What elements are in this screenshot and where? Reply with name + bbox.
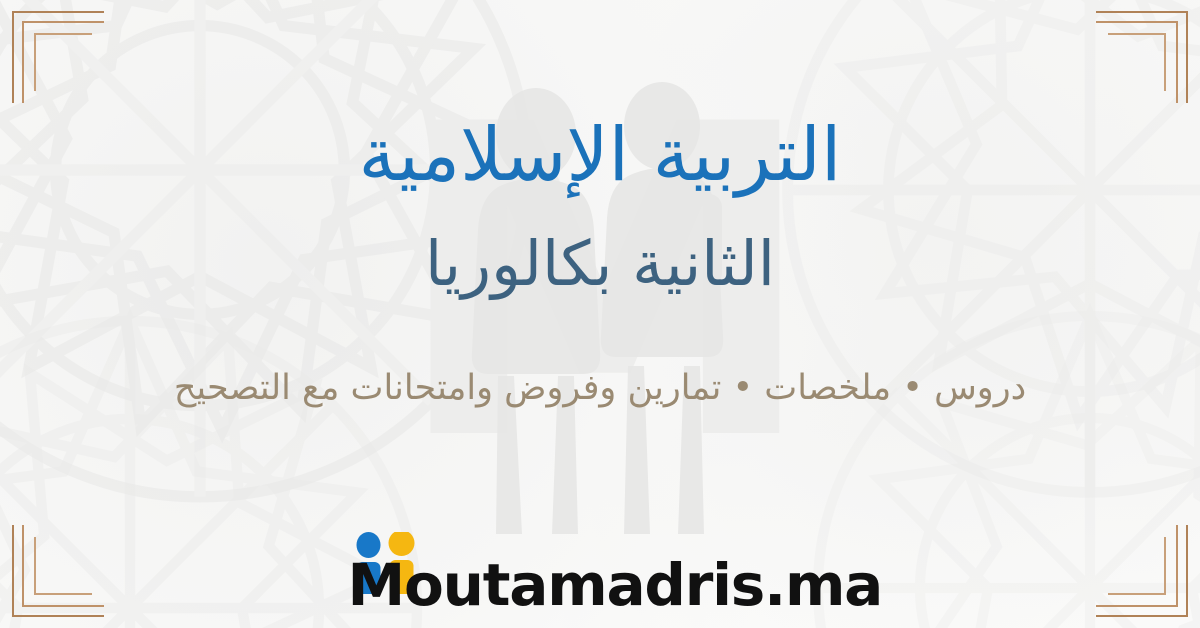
logo-wordmark: Moutamadris.ma xyxy=(348,556,853,614)
tagline: دروس • ملخصات • تمارين وفروض وامتحانات م… xyxy=(174,368,1026,408)
site-logo[interactable]: Moutamadris.ma xyxy=(348,524,853,614)
level-title: الثانية بكالوريا xyxy=(425,227,775,301)
subject-title: التربية الإسلامية xyxy=(359,112,842,199)
course-banner: M xyxy=(0,0,1200,628)
